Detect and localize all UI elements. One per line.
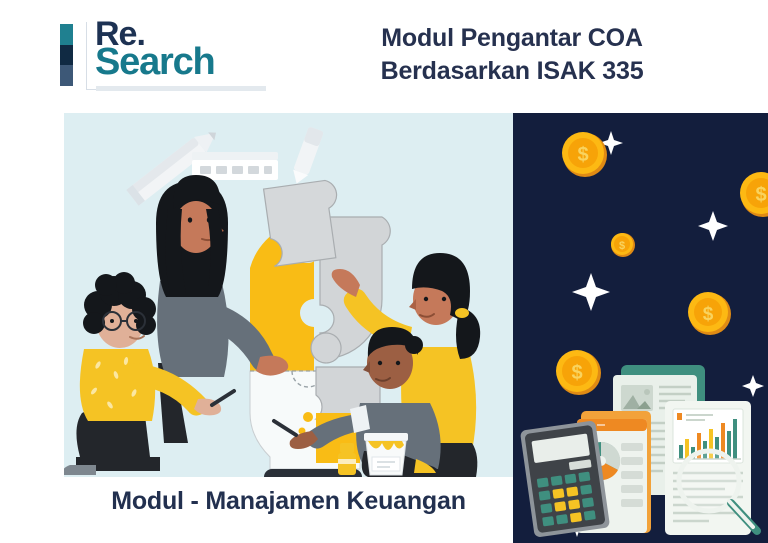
glue-bottle-icon <box>338 443 356 475</box>
logo-wordmark: Re. Search <box>95 20 215 79</box>
svg-text:$: $ <box>703 304 714 325</box>
page-title-line2: Berdasarkan ISAK 335 <box>302 55 722 88</box>
hair-tie-icon <box>455 308 469 318</box>
logo-bar-icon <box>60 24 73 86</box>
svg-text:$: $ <box>619 240 625 252</box>
page-title-line1: Modul Pengantar COA <box>302 22 722 55</box>
calculator-icon <box>520 420 610 538</box>
page-caption: Modul - Manajamen Keuangan <box>64 487 513 516</box>
svg-text:$: $ <box>755 184 766 206</box>
logo-divider <box>86 22 87 90</box>
svg-text:$: $ <box>577 144 588 166</box>
finance-illustration: $ $ $ $ $ <box>513 113 768 543</box>
brand-logo: Re. Search <box>60 20 310 92</box>
page-title: Modul Pengantar COA Berdasarkan ISAK 335 <box>302 22 722 89</box>
svg-text:$: $ <box>571 362 582 384</box>
puzzle-illustration-svg: T <box>64 113 513 477</box>
paint-bucket-icon <box>364 433 408 475</box>
finance-illustration-svg: $ $ $ $ $ <box>513 113 768 543</box>
coin-icon: $ <box>611 233 635 257</box>
puzzle-illustration: T <box>64 113 513 477</box>
hair-bun-icon <box>405 336 423 354</box>
page-header: Re. Search Modul Pengantar COA Berdasark… <box>0 0 768 112</box>
logo-underline <box>96 86 266 91</box>
logo-text-search: Search <box>95 46 215 79</box>
